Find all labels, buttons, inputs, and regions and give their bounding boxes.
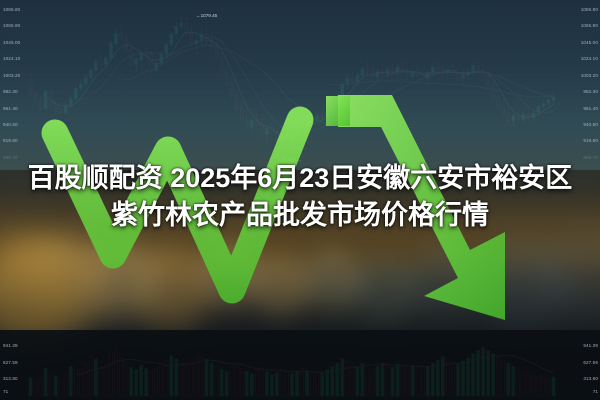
- axis-tick-label: 627.59: [560, 360, 598, 365]
- axis-tick-label: 313.80: [3, 376, 18, 381]
- volume-chart-background: [0, 330, 600, 400]
- page-title-line-2: 紫竹林农产品批发市场价格行情: [0, 197, 600, 234]
- axis-tick-label: 941.39: [3, 343, 18, 348]
- axis-tick-label: 71: [3, 389, 8, 394]
- arrow-tail-shape: [326, 96, 350, 126]
- axis-tick-label: 941.39: [560, 343, 598, 348]
- axis-tick-label: 627.59: [3, 360, 18, 365]
- axis-tick-label: 71: [560, 389, 598, 394]
- volume-chart: [0, 330, 600, 400]
- axis-tick-label: 313.80: [560, 376, 598, 381]
- page-title-line-1: 百股顺配资 2025年6月23日安徽六安市裕安区: [0, 160, 600, 197]
- screenshot-root: 1086.801065.901045.001024.101003.20982.3…: [0, 0, 600, 400]
- page-title: 百股顺配资 2025年6月23日安徽六安市裕安区 紫竹林农产品批发市场价格行情: [0, 160, 600, 234]
